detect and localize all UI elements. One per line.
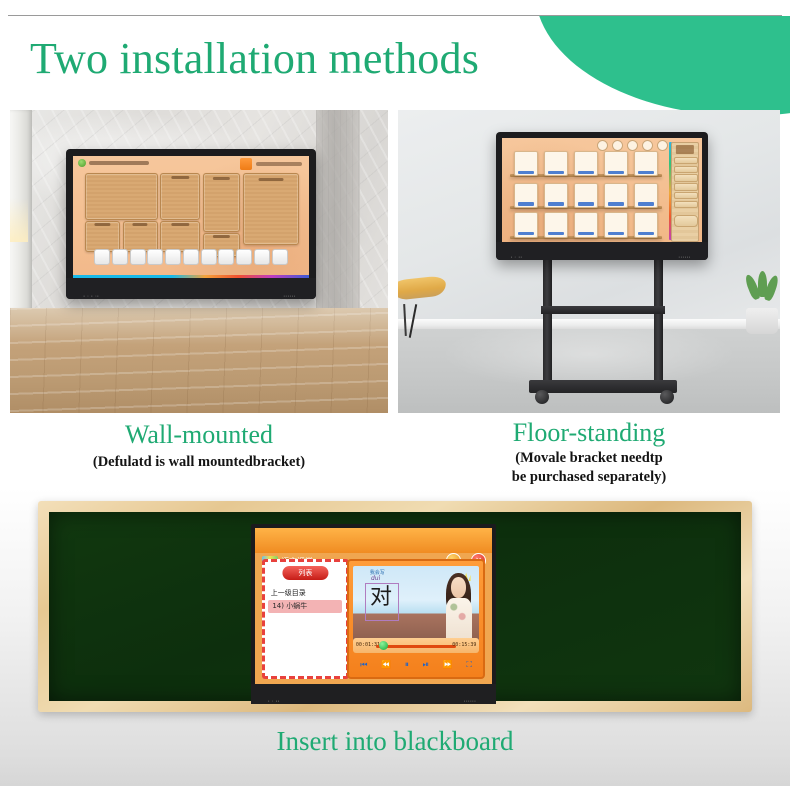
wall-baseboard bbox=[398, 319, 780, 329]
tile-label bbox=[638, 171, 655, 174]
teacher-figure bbox=[443, 570, 476, 639]
blackboard-surface: 语文课堂 ✕ 列表 上一级目录 14) 小蜗牛 我会写 duì 对 bbox=[49, 512, 741, 701]
forward-icon[interactable]: ⏩ bbox=[443, 660, 453, 669]
lesson-video-frame: 我会写 duì 对 bbox=[353, 566, 478, 643]
notes-icon[interactable] bbox=[240, 158, 252, 170]
course-tile[interactable] bbox=[544, 212, 568, 237]
green-circle-shape bbox=[535, 16, 790, 116]
dashboard-card[interactable] bbox=[123, 221, 158, 252]
cart-caster-right bbox=[660, 390, 674, 404]
tile-label bbox=[518, 232, 535, 235]
dock-icon-paint[interactable] bbox=[254, 249, 270, 265]
dock-icon-settings[interactable] bbox=[165, 249, 181, 265]
caption-sub-floor-standing-line2: be purchased separately) bbox=[398, 468, 780, 487]
tile-label bbox=[518, 202, 535, 205]
dashboard-title-text bbox=[89, 161, 149, 165]
plant-pot bbox=[746, 308, 778, 334]
cart-post-right bbox=[654, 260, 663, 390]
dashboard-card[interactable] bbox=[243, 173, 299, 245]
course-tile[interactable] bbox=[574, 183, 598, 208]
list-tab-label[interactable]: 列表 bbox=[283, 566, 328, 580]
photo-floor-standing: ▪ ▫ ▪▪ ▪▪▪▪▪▪ bbox=[398, 110, 780, 413]
dock-icon-globe[interactable] bbox=[272, 249, 288, 265]
bezel-brand-logo: ▪▪▪▪▪▪ bbox=[284, 294, 296, 298]
time-total: 00:15:39 bbox=[452, 642, 476, 648]
sidebar-action-button[interactable] bbox=[674, 215, 697, 227]
card-header bbox=[213, 177, 229, 180]
lesson-list-pane: 列表 上一级目录 14) 小蜗牛 bbox=[262, 559, 349, 679]
course-tile[interactable] bbox=[544, 183, 568, 208]
wooden-floor bbox=[10, 308, 388, 413]
page-title: Two installation methods bbox=[30, 33, 479, 85]
card-header bbox=[95, 223, 110, 226]
tile-label bbox=[578, 202, 595, 205]
promo-page: Two installation methods bbox=[0, 0, 790, 786]
caption-floor-standing: Floor-standing (Movale bracket needtp be… bbox=[398, 418, 780, 487]
dock-icon-browser[interactable] bbox=[94, 249, 110, 265]
embedded-display-bezel: ▪ ▫ ▪▪ ▪▪▪▪▪▪ bbox=[251, 684, 496, 704]
dashboard-topbar bbox=[78, 158, 305, 168]
course-tile[interactable] bbox=[574, 212, 598, 237]
seek-track[interactable] bbox=[376, 645, 456, 648]
tile-label bbox=[578, 171, 595, 174]
pause-icon[interactable]: ⏸ bbox=[405, 660, 409, 670]
list-parent-folder[interactable]: 上一级目录 bbox=[271, 588, 306, 598]
course-tile[interactable] bbox=[514, 212, 538, 237]
course-tile[interactable] bbox=[634, 151, 658, 176]
tile-label bbox=[548, 202, 565, 205]
toolbar-icon-settings[interactable] bbox=[627, 140, 638, 151]
fullscreen-icon[interactable]: ⛶ bbox=[466, 660, 472, 670]
dashboard-card[interactable] bbox=[160, 221, 200, 252]
tile-label bbox=[638, 202, 655, 205]
screen-toolbar bbox=[597, 140, 668, 151]
dock-icon-media[interactable] bbox=[112, 249, 128, 265]
lesson-app-titlebar bbox=[255, 528, 492, 553]
play-icon[interactable]: ⏯ bbox=[423, 660, 429, 670]
dashboard-ui bbox=[73, 156, 309, 278]
caption-wall-mounted: Wall-mounted (Defulatd is wall mountedbr… bbox=[10, 420, 388, 472]
shelf-dashboard-ui bbox=[502, 138, 702, 244]
photo-wall-mounted: ▪ ▫ ▪ ▫▪ ▪▪▪▪▪▪ bbox=[10, 110, 388, 413]
caption-title-wall-mounted: Wall-mounted bbox=[10, 420, 388, 450]
display-screen-right bbox=[502, 138, 702, 244]
tile-label bbox=[578, 232, 595, 235]
course-tile[interactable] bbox=[544, 151, 568, 176]
window-frame-strip bbox=[10, 110, 32, 310]
toolbar-icon-back[interactable] bbox=[597, 140, 608, 151]
sidebar-title bbox=[676, 145, 694, 154]
cart-base-bar bbox=[529, 380, 677, 393]
toolbar-icon-close[interactable] bbox=[657, 140, 668, 151]
potted-plant bbox=[740, 274, 780, 334]
caption-sub-floor-standing-line1: (Movale bracket needtp bbox=[398, 449, 780, 468]
course-tile[interactable] bbox=[604, 183, 628, 208]
card-header bbox=[213, 235, 229, 238]
wall-panel-seam bbox=[316, 110, 360, 310]
sidebar-item[interactable] bbox=[674, 201, 697, 208]
floor-standing-display: ▪ ▫ ▪▪ ▪▪▪▪▪▪ bbox=[496, 132, 708, 260]
list-item-selected[interactable]: 14) 小蜗牛 bbox=[268, 600, 342, 613]
blackboard-frame: 语文课堂 ✕ 列表 上一级目录 14) 小蜗牛 我会写 duì 对 bbox=[38, 501, 752, 712]
toolbar-icon-user[interactable] bbox=[642, 140, 653, 151]
display-bezel-bottom-left: ▪ ▫ ▪ ▫▪ ▪▪▪▪▪▪ bbox=[66, 278, 316, 299]
card-header bbox=[172, 223, 189, 226]
card-header bbox=[259, 178, 284, 181]
cart-shelf-bar bbox=[541, 306, 665, 314]
prev-icon[interactable]: ⏮ bbox=[360, 660, 367, 670]
bezel-control-dots[interactable]: ▪ ▫ ▪ ▫▪ bbox=[84, 294, 100, 298]
dashboard-card[interactable] bbox=[203, 173, 240, 232]
course-tile[interactable] bbox=[604, 212, 628, 237]
teacher-body bbox=[446, 598, 472, 639]
tile-label bbox=[608, 171, 625, 174]
sidebar-item[interactable] bbox=[674, 174, 697, 181]
tile-label bbox=[608, 232, 625, 235]
course-tile[interactable] bbox=[514, 151, 538, 176]
tile-label bbox=[548, 232, 565, 235]
video-controls: ⏮ ⏪ ⏸ ⏯ ⏩ ⛶ bbox=[353, 656, 478, 672]
course-tile[interactable] bbox=[574, 151, 598, 176]
cart-post-left bbox=[543, 260, 552, 390]
caption-title-floor-standing: Floor-standing bbox=[398, 418, 780, 448]
dock-icon-profile[interactable] bbox=[218, 249, 234, 265]
dock-icon-search[interactable] bbox=[147, 249, 163, 265]
lesson-video-pane: 我会写 duì 对 00:01:31 bbox=[347, 559, 484, 679]
course-tile[interactable] bbox=[634, 183, 658, 208]
lesson-pinyin: duì bbox=[371, 575, 380, 582]
display-bezel-bottom-right: ▪ ▫ ▪▪ ▪▪▪▪▪▪ bbox=[496, 242, 708, 260]
screen-sidebar bbox=[671, 142, 699, 242]
dashboard-card[interactable] bbox=[85, 173, 158, 220]
card-header bbox=[172, 176, 189, 179]
embedded-display-screen: 语文课堂 ✕ 列表 上一级目录 14) 小蜗牛 我会写 duì 对 bbox=[255, 528, 492, 684]
tile-label bbox=[548, 171, 565, 174]
window-daylight-glow bbox=[10, 198, 28, 242]
dock-icon-gallery[interactable] bbox=[236, 249, 252, 265]
lesson-character: 对 bbox=[367, 586, 395, 618]
course-tile[interactable] bbox=[634, 212, 658, 237]
tile-label bbox=[638, 232, 655, 235]
wall-mounted-display: ▪ ▫ ▪ ▫▪ ▪▪▪▪▪▪ bbox=[66, 149, 316, 299]
course-tile[interactable] bbox=[604, 151, 628, 176]
sidebar-item[interactable] bbox=[674, 183, 697, 190]
sidebar-item[interactable] bbox=[674, 157, 697, 164]
caption-blackboard: Insert into blackboard bbox=[0, 726, 790, 756]
teacher-face bbox=[451, 577, 466, 598]
app-dock bbox=[94, 249, 288, 267]
bezel-control-dots[interactable]: ▪ ▫ ▪▪ bbox=[268, 699, 280, 703]
bezel-control-dots[interactable]: ▪ ▫ ▪▪ bbox=[511, 255, 523, 259]
video-seekbar-area[interactable]: 00:01:31 00:15:39 bbox=[353, 638, 478, 653]
course-tile[interactable] bbox=[514, 183, 538, 208]
dock-icon-cloud[interactable] bbox=[183, 249, 199, 265]
dashboard-card[interactable] bbox=[160, 173, 200, 220]
grey-tile-floor bbox=[398, 329, 780, 413]
bezel-brand-logo: ▪▪▪▪▪▪ bbox=[679, 255, 691, 259]
dashboard-card[interactable] bbox=[85, 221, 120, 252]
dock-icon-users[interactable] bbox=[201, 249, 217, 265]
toolbar-icon-home[interactable] bbox=[612, 140, 623, 151]
rewind-icon[interactable]: ⏪ bbox=[381, 660, 391, 669]
seek-handle[interactable] bbox=[379, 641, 388, 650]
cart-caster-left bbox=[535, 390, 549, 404]
display-screen-left bbox=[73, 156, 309, 278]
dock-icon-notes[interactable] bbox=[130, 249, 146, 265]
sidebar-item[interactable] bbox=[674, 192, 697, 199]
caption-title-blackboard: Insert into blackboard bbox=[0, 726, 790, 756]
caption-sub-wall-mounted: (Defulatd is wall mountedbracket) bbox=[10, 453, 388, 472]
card-header bbox=[132, 223, 147, 226]
embedded-display: 语文课堂 ✕ 列表 上一级目录 14) 小蜗牛 我会写 duì 对 bbox=[251, 524, 496, 704]
tile-label bbox=[518, 171, 535, 174]
app-logo-icon bbox=[78, 159, 86, 167]
bezel-brand-logo: ▪▪▪▪▪▪ bbox=[464, 699, 476, 703]
sidebar-item[interactable] bbox=[674, 166, 697, 173]
dashboard-account-text bbox=[256, 162, 302, 166]
tile-label bbox=[608, 202, 625, 205]
